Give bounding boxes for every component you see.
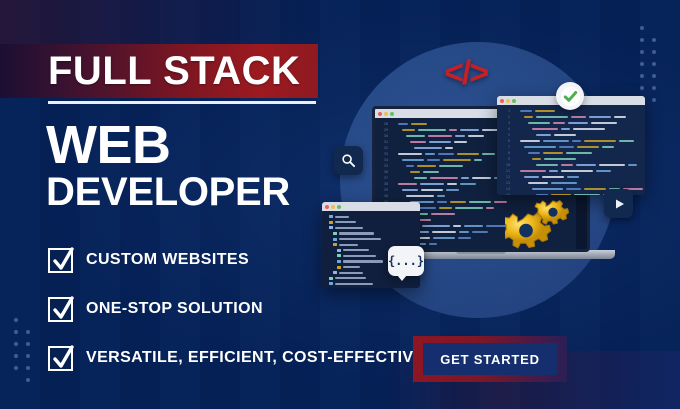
file-name — [343, 260, 383, 262]
file-icon — [329, 282, 333, 285]
code-token — [614, 116, 626, 119]
code-token — [420, 183, 444, 186]
code-token — [398, 123, 408, 126]
code-token — [472, 177, 491, 180]
file-icon — [333, 243, 337, 246]
line-number: 3 — [497, 121, 512, 125]
code-token — [439, 207, 452, 210]
code-token — [524, 116, 533, 119]
code-token — [574, 194, 600, 195]
line-number: 36 — [375, 170, 390, 174]
line-number: 15 — [497, 193, 512, 195]
code-token — [429, 243, 437, 246]
code-token — [458, 237, 471, 240]
line-number: 12 — [497, 175, 512, 179]
decorative-dot — [652, 74, 656, 78]
code-token — [418, 129, 446, 132]
code-token — [446, 189, 459, 192]
code-token — [532, 158, 541, 161]
line-number: 28 — [375, 122, 390, 126]
ribbon-title: FULL STACK — [0, 51, 300, 91]
close-icon[interactable] — [378, 112, 382, 116]
maximize-icon[interactable] — [512, 99, 516, 103]
code-token — [535, 110, 555, 113]
code-token — [437, 201, 447, 204]
code-snippet-icon: {...} — [388, 246, 424, 276]
code-token — [461, 249, 483, 252]
code-token — [553, 122, 565, 125]
code-token — [414, 177, 427, 180]
decorative-dot — [14, 342, 18, 346]
code-token — [559, 146, 574, 149]
code-token — [422, 225, 450, 228]
file-name — [339, 232, 374, 234]
search-icon[interactable] — [334, 146, 363, 175]
code-token — [584, 140, 616, 143]
code-token — [410, 141, 426, 144]
code-token — [482, 153, 495, 156]
code-token — [450, 201, 466, 204]
decorative-dot — [640, 74, 644, 78]
play-icon[interactable] — [604, 189, 633, 218]
code-token — [455, 207, 483, 210]
minimize-icon[interactable] — [331, 205, 335, 209]
file-name — [343, 249, 369, 251]
code-token — [528, 182, 548, 185]
code-token — [432, 231, 456, 234]
maximize-icon[interactable] — [390, 112, 394, 116]
file-icon — [329, 226, 333, 229]
code-token — [602, 146, 614, 149]
line-number: 34 — [375, 158, 390, 162]
code-token — [425, 153, 435, 156]
line-number: 39 — [375, 188, 390, 192]
decorative-dot — [26, 354, 30, 358]
file-icon — [333, 238, 337, 241]
code-token — [460, 129, 479, 132]
code-token — [474, 159, 482, 162]
feature-item: ONE-STOP SOLUTION — [48, 289, 468, 329]
file-name — [339, 244, 358, 246]
decorative-dot — [14, 318, 18, 322]
code-token — [561, 164, 573, 167]
code-token — [554, 134, 576, 137]
code-token — [561, 128, 570, 131]
maximize-icon[interactable] — [337, 205, 341, 209]
code-token — [443, 159, 471, 162]
code-token — [406, 135, 425, 138]
line-number: 40 — [375, 194, 390, 198]
decorative-dot — [640, 26, 644, 30]
code-token — [457, 153, 479, 156]
decorative-dot — [640, 38, 644, 42]
line-number: 4 — [497, 127, 512, 131]
code-token — [528, 152, 540, 155]
minimize-icon[interactable] — [506, 99, 510, 103]
code-token — [544, 158, 576, 161]
line-number: 13 — [497, 181, 512, 185]
code-token — [414, 147, 442, 150]
code-token — [464, 225, 483, 228]
decorative-dot — [14, 330, 18, 334]
code-token — [469, 201, 491, 204]
file-name — [339, 272, 363, 274]
code-tag-icon: </> — [444, 56, 487, 90]
file-name — [335, 277, 366, 279]
code-token — [402, 129, 415, 132]
code-token — [551, 194, 571, 195]
decorative-dot — [652, 38, 656, 42]
code-token — [472, 231, 488, 234]
line-number: 6 — [497, 139, 512, 143]
heading-line-2: DEVELOPER — [46, 172, 290, 212]
decorative-dot — [652, 98, 656, 102]
line-number: 32 — [375, 146, 390, 150]
file-icon — [337, 260, 341, 263]
feature-item: VERSATILE, EFFICIENT, COST-EFFECTIVE — [48, 338, 468, 378]
code-token — [524, 176, 539, 179]
file-icon — [329, 215, 333, 218]
code-token — [437, 195, 445, 198]
code-token — [532, 188, 563, 191]
close-icon[interactable] — [325, 205, 329, 209]
decorative-dot — [652, 50, 656, 54]
decorative-dot — [640, 50, 644, 54]
code-token — [429, 249, 439, 252]
line-number: 10 — [497, 163, 512, 167]
code-token — [406, 195, 434, 198]
decorative-dot — [640, 62, 644, 66]
file-icon — [337, 249, 341, 252]
ribbon-underline — [48, 101, 316, 104]
file-icon — [337, 254, 341, 257]
file-icon — [337, 266, 341, 269]
code-token — [411, 123, 427, 126]
file-icon — [329, 277, 333, 280]
code-token — [551, 182, 577, 185]
line-number: 29 — [375, 128, 390, 132]
close-icon[interactable] — [500, 99, 504, 103]
code-token — [454, 141, 467, 144]
file-icon — [333, 271, 337, 274]
file-icon — [333, 232, 337, 235]
code-token — [524, 146, 556, 149]
code-token — [438, 153, 454, 156]
code-token — [599, 164, 625, 167]
code-token — [543, 152, 563, 155]
line-number: 33 — [375, 152, 390, 156]
code-token — [439, 165, 463, 168]
code-token — [561, 170, 593, 173]
file-name — [335, 221, 356, 223]
code-token — [455, 135, 465, 138]
file-name — [335, 216, 349, 218]
decorative-dot — [26, 378, 30, 382]
code-token — [459, 231, 469, 234]
file-tree-item[interactable] — [325, 281, 418, 287]
code-token — [584, 188, 606, 191]
code-token — [542, 176, 564, 179]
line-number: 35 — [375, 164, 390, 168]
code-token — [402, 159, 424, 162]
file-name — [335, 227, 363, 229]
code-token — [536, 194, 548, 195]
code-token — [410, 171, 420, 174]
minimize-icon[interactable] — [384, 112, 388, 116]
code-token — [421, 189, 443, 192]
code-token — [573, 128, 605, 131]
code-token — [589, 116, 611, 119]
code-token — [486, 249, 499, 252]
code-token — [460, 183, 476, 186]
code-token — [566, 152, 592, 155]
line-number: 8 — [497, 151, 512, 155]
line-number: 37 — [375, 176, 390, 180]
code-token — [596, 170, 611, 173]
line-number: 7 — [497, 145, 512, 149]
code-token — [430, 177, 458, 180]
code-token — [536, 116, 568, 119]
code-token — [576, 164, 596, 167]
line-number: 14 — [497, 187, 512, 191]
code-token — [577, 146, 599, 149]
code-token — [520, 110, 532, 113]
get-started-label: GET STARTED — [440, 352, 540, 367]
code-token — [398, 183, 417, 186]
code-token — [406, 165, 414, 168]
feature-label: VERSATILE, EFFICIENT, COST-EFFECTIVE — [86, 349, 425, 367]
code-token — [520, 140, 540, 143]
code-token — [628, 164, 637, 167]
feature-label: ONE-STOP SOLUTION — [86, 300, 263, 318]
code-token — [486, 207, 494, 210]
code-token — [449, 129, 457, 132]
ribbon-banner: FULL STACK — [0, 44, 318, 98]
code-token — [520, 170, 546, 173]
code-token — [468, 135, 484, 138]
heading-line-1: WEB — [46, 118, 170, 172]
file-name — [343, 255, 376, 257]
checkbox-checked-icon — [48, 248, 73, 273]
verified-check-icon — [556, 82, 584, 110]
code-token — [532, 128, 558, 131]
gears-icon — [505, 198, 577, 261]
line-number: 11 — [497, 169, 512, 173]
code-token — [528, 122, 550, 125]
code-token — [427, 159, 440, 162]
code-token — [566, 188, 581, 191]
feature-label: CUSTOM WEBSITES — [86, 251, 249, 269]
html-window-body: 123456789101112131415 — [497, 105, 645, 195]
code-token — [431, 213, 455, 216]
code-token — [568, 122, 588, 125]
html-code-lines: 123456789101112131415 — [497, 105, 645, 195]
code-token — [428, 135, 452, 138]
line-number: 9 — [497, 157, 512, 161]
code-token — [549, 170, 558, 173]
decorative-dot — [14, 366, 18, 370]
code-token — [536, 134, 551, 137]
checkbox-checked-icon — [48, 297, 73, 322]
code-token — [591, 122, 617, 125]
full-stack-web-developer-banner: FULL STACK WEB DEVELOPER CUSTOM WEBSITES… — [0, 0, 680, 409]
file-name — [343, 266, 360, 268]
code-token — [417, 165, 436, 168]
decorative-dot — [652, 86, 656, 90]
line-number: 2 — [497, 115, 512, 119]
file-name — [339, 238, 381, 240]
decorative-dot — [640, 86, 644, 90]
decorative-dot — [14, 354, 18, 358]
code-token — [571, 116, 586, 119]
code-token — [402, 189, 418, 192]
code-token — [442, 249, 458, 252]
line-number: 5 — [497, 133, 512, 137]
code-token — [619, 140, 634, 143]
get-started-button[interactable]: GET STARTED — [413, 336, 567, 382]
line-number: 1 — [497, 109, 512, 113]
code-token — [447, 183, 457, 186]
code-token — [433, 237, 455, 240]
code-token — [398, 153, 422, 156]
html-code-window: 123456789101112131415 — [497, 96, 645, 195]
code-token — [461, 177, 469, 180]
decorative-dot — [26, 342, 30, 346]
code-token — [453, 225, 461, 228]
line-number: 31 — [375, 140, 390, 144]
code-token — [572, 140, 581, 143]
code-token — [423, 171, 439, 174]
checkbox-checked-icon — [48, 346, 73, 371]
line-number: 38 — [375, 182, 390, 186]
decorative-dot — [26, 330, 30, 334]
get-started-button-inner[interactable]: GET STARTED — [423, 343, 557, 375]
code-token — [445, 147, 453, 150]
file-explorer-title-bar — [322, 202, 420, 211]
decorative-dot — [652, 62, 656, 66]
file-name — [335, 283, 373, 285]
code-token — [429, 141, 451, 144]
line-number: 30 — [375, 134, 390, 138]
code-token — [543, 140, 569, 143]
decorative-dot — [26, 366, 30, 370]
code-token — [567, 176, 579, 179]
file-icon — [329, 221, 333, 224]
code-token — [536, 164, 558, 167]
